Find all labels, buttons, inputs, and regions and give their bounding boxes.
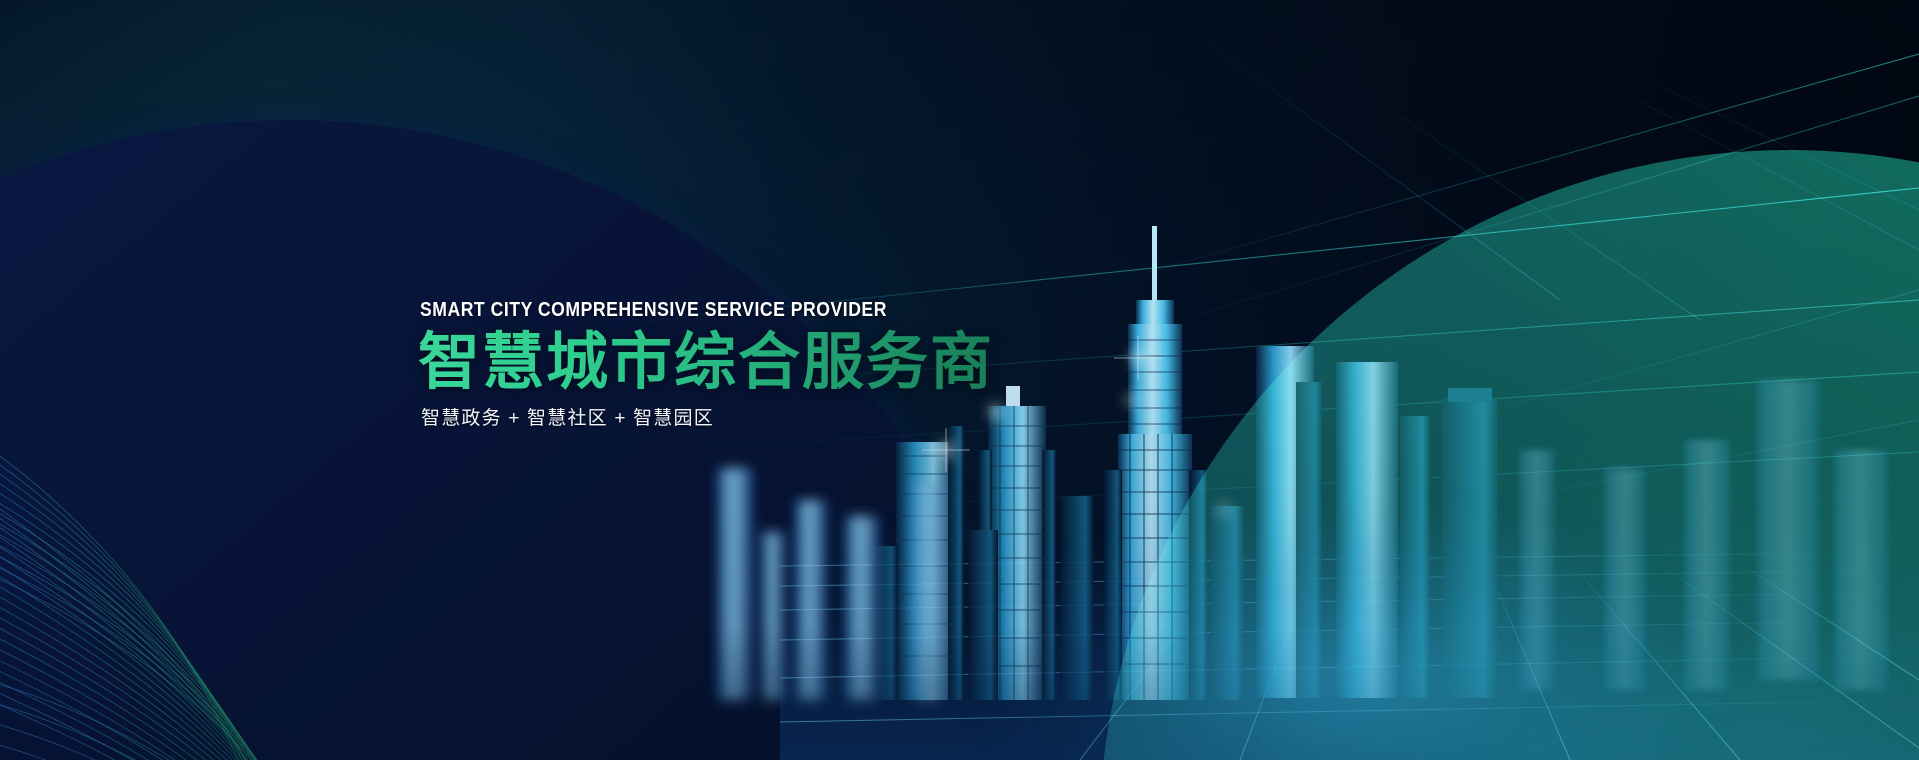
hero-copy: SMART CITY COMPREHENSIVE SERVICE PROVIDE… xyxy=(418,300,994,428)
page-title: 智慧城市综合服务商 xyxy=(418,328,994,397)
subtitle-text: 智慧政务 + 智慧社区 + 智慧园区 xyxy=(421,409,994,428)
eyebrow-text: SMART CITY COMPREHENSIVE SERVICE PROVIDE… xyxy=(420,300,925,320)
city-skyline xyxy=(700,150,1919,760)
smart-city-hero-banner: SMART CITY COMPREHENSIVE SERVICE PROVIDE… xyxy=(0,0,1919,760)
